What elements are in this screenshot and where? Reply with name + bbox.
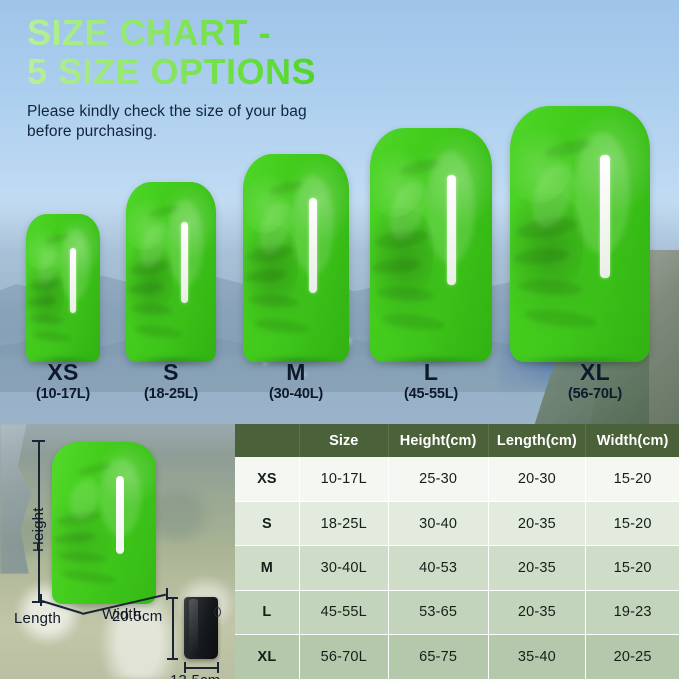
cell-capacity: 30-40L — [299, 546, 388, 590]
pouch-height-label: 20.5cm — [112, 608, 162, 625]
bag-xl — [510, 106, 650, 362]
cell-size-name: S — [235, 501, 299, 545]
page-title-line-1: SIZE CHART - — [27, 14, 447, 53]
pouch-drawstring-icon — [214, 607, 221, 617]
cell-capacity: 56-70L — [299, 635, 388, 679]
size-label-xs: XS (10-17L) — [13, 360, 113, 406]
cell-capacity: 10-17L — [299, 457, 388, 501]
reflective-strip-xl — [600, 155, 610, 278]
pouch-height-cap-top — [167, 597, 178, 599]
height-arrow-cap-top — [32, 440, 45, 442]
pouch-height-cap-bottom — [167, 658, 178, 660]
table-header-width: Width(cm) — [586, 424, 679, 457]
size-name-l: L — [381, 360, 481, 384]
size-name-s: S — [121, 360, 221, 384]
bag-m — [243, 154, 349, 362]
table-row: S 18-25L 30-40 20-35 15-20 — [235, 501, 679, 545]
cell-size-name: XL — [235, 635, 299, 679]
cell-capacity: 45-55L — [299, 590, 388, 634]
bag-s — [126, 182, 216, 362]
cell-length: 20-35 — [488, 501, 586, 545]
size-capacity-xl: (56-70L) — [545, 384, 645, 406]
cell-capacity: 18-25L — [299, 501, 388, 545]
size-label-row: XS (10-17L) S (18-25L) M (30-40L) L (45-… — [0, 360, 679, 420]
pouch-width-line — [184, 667, 218, 669]
cell-length: 35-40 — [488, 635, 586, 679]
size-capacity-xs: (10-17L) — [13, 384, 113, 406]
reflective-strip-l — [447, 175, 456, 285]
table-row: L 45-55L 53-65 20-35 19-23 — [235, 590, 679, 634]
size-name-m: M — [246, 360, 346, 384]
table-header-blank — [235, 424, 299, 457]
size-capacity-s: (18-25L) — [121, 384, 221, 406]
bag-cover-xl — [510, 106, 650, 362]
reflective-strip-s — [181, 222, 188, 303]
bag-cover-l — [370, 128, 492, 362]
size-table: Size Height(cm) Length(cm) Width(cm) XS … — [235, 424, 679, 679]
page-title-line-2: 5 SIZE OPTIONS — [27, 53, 447, 92]
table-header-length: Length(cm) — [488, 424, 586, 457]
cell-length: 20-35 — [488, 590, 586, 634]
size-name-xs: XS — [13, 360, 113, 384]
size-label-m: M (30-40L) — [246, 360, 346, 406]
diagram-bag-cover — [52, 442, 156, 604]
cell-height: 53-65 — [388, 590, 488, 634]
cell-width: 15-20 — [586, 546, 679, 590]
cell-size-name: XS — [235, 457, 299, 501]
height-label: Height — [30, 507, 47, 552]
size-label-l: L (45-55L) — [381, 360, 481, 406]
storage-pouch — [184, 597, 218, 659]
cell-size-name: M — [235, 546, 299, 590]
size-capacity-l: (45-55L) — [381, 384, 481, 406]
cell-length: 20-30 — [488, 457, 586, 501]
infographic-stage: SIZE CHART - 5 SIZE OPTIONS Please kindl… — [0, 0, 679, 679]
size-capacity-m: (30-40L) — [246, 384, 346, 406]
bag-xs — [26, 214, 100, 362]
bag-cover-m — [243, 154, 349, 362]
table-row: XL 56-70L 65-75 35-40 20-25 — [235, 635, 679, 679]
cell-width: 15-20 — [586, 457, 679, 501]
pouch-width-label: 13.5cm — [170, 672, 220, 679]
pouch-height-line — [172, 597, 174, 659]
cell-width: 19-23 — [586, 590, 679, 634]
bag-lineup — [0, 100, 679, 362]
cell-height: 65-75 — [388, 635, 488, 679]
table-header-height: Height(cm) — [388, 424, 488, 457]
reflective-strip-m — [309, 198, 317, 294]
length-label: Length — [14, 610, 61, 627]
cell-width: 15-20 — [586, 501, 679, 545]
table-header-row: Size Height(cm) Length(cm) Width(cm) — [235, 424, 679, 457]
size-name-xl: XL — [545, 360, 645, 384]
dimension-diagram: Height Length Width 20.5cm 13.5cm — [0, 424, 240, 679]
bag-l — [370, 128, 492, 362]
cell-width: 20-25 — [586, 635, 679, 679]
size-label-xl: XL (56-70L) — [545, 360, 645, 406]
table-row: M 30-40L 40-53 20-35 15-20 — [235, 546, 679, 590]
size-table-container: Size Height(cm) Length(cm) Width(cm) XS … — [235, 424, 679, 679]
diagram-reflective-strip — [116, 476, 124, 554]
bag-cover-s — [126, 182, 216, 362]
cell-size-name: L — [235, 590, 299, 634]
length-arrow-cap-start — [40, 594, 42, 606]
size-label-s: S (18-25L) — [121, 360, 221, 406]
cell-height: 40-53 — [388, 546, 488, 590]
table-header-size: Size — [299, 424, 388, 457]
cell-height: 25-30 — [388, 457, 488, 501]
table-row: XS 10-17L 25-30 20-30 15-20 — [235, 457, 679, 501]
cell-height: 30-40 — [388, 501, 488, 545]
bag-cover-xs — [26, 214, 100, 362]
reflective-strip-xs — [70, 248, 76, 313]
cell-length: 20-35 — [488, 546, 586, 590]
